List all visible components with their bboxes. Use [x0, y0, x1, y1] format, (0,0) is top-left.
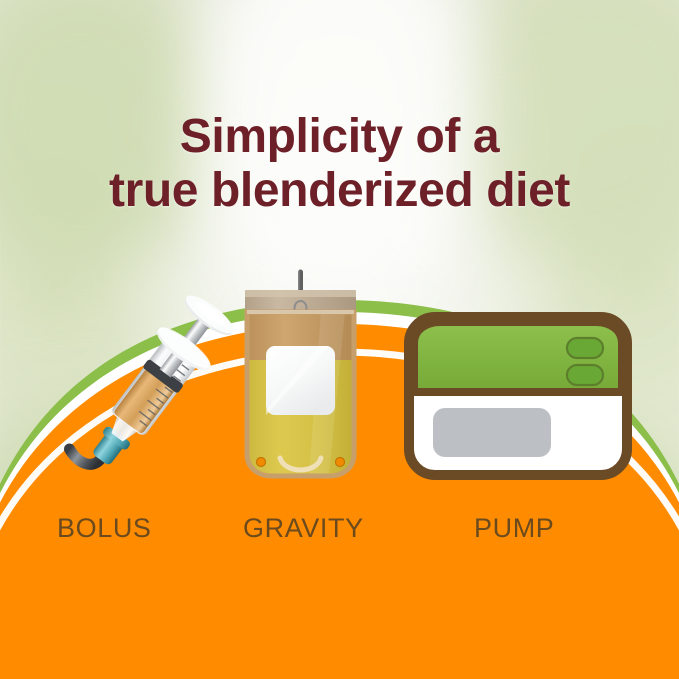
headline-line-1: Simplicity of a: [180, 110, 499, 163]
syringe-icon: [60, 280, 250, 495]
feeding-bag-icon: [233, 268, 368, 490]
bag-grommet-left: [257, 458, 266, 467]
headline-line-2: true blenderized diet: [0, 164, 679, 218]
label-bolus: BOLUS: [57, 513, 152, 544]
bag-header-highlight: [245, 290, 356, 297]
label-pump: PUMP: [474, 513, 554, 544]
bag-grommet-right: [336, 458, 345, 467]
label-gravity: GRAVITY: [243, 513, 364, 544]
pump-display-screen: [433, 408, 551, 457]
poster-canvas: Simplicity of a true blenderized diet: [0, 0, 679, 679]
feeding-pump-icon: [404, 312, 632, 480]
pump-button-bottom: [567, 365, 603, 385]
pump-button-top: [567, 338, 603, 358]
page-title: Simplicity of a true blenderized diet: [0, 110, 679, 218]
bag-label-patch: [266, 346, 335, 415]
method-labels: BOLUS GRAVITY PUMP: [0, 513, 679, 553]
